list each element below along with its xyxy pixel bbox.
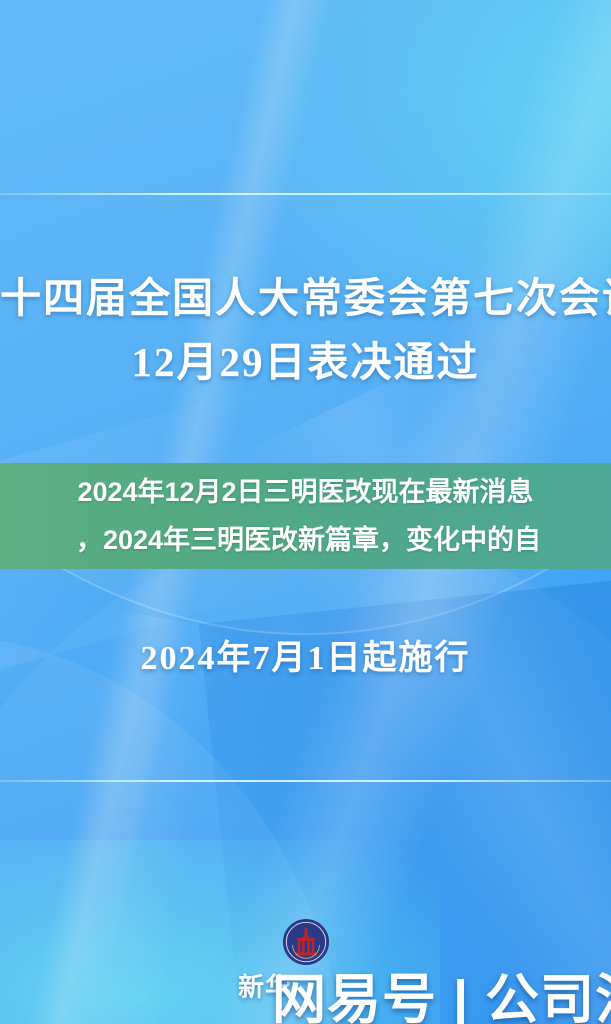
divider-line-bottom [0,780,611,782]
article-title-line-2: ，2024年三明医改新篇章，变化中的自 [0,516,611,564]
headline-line-1: 十四届全国人大常委会第七次会议 [0,276,611,322]
article-title-line-1: 2024年12月2日三明医改现在最新消息 [0,468,611,516]
brand-label: 网易号 | 公司法与税 [272,955,611,1024]
article-title-text: 2024年12月2日三明医改现在最新消息 ，2024年三明医改新篇章，变化中的自 [0,463,611,569]
divider-line-top [0,193,611,195]
poster-canvas: 十四届全国人大常委会第七次会议 12月29日表决通过 新华社 新媒体中心 202… [0,0,611,1024]
article-title-band: 2024年12月2日三明医改现在最新消息 ，2024年三明医改新篇章，变化中的自 [0,463,611,569]
headline-line-3: 2024年7月1日起施行 [0,640,611,678]
headline-line-2: 12月29日表决通过 [0,340,611,386]
